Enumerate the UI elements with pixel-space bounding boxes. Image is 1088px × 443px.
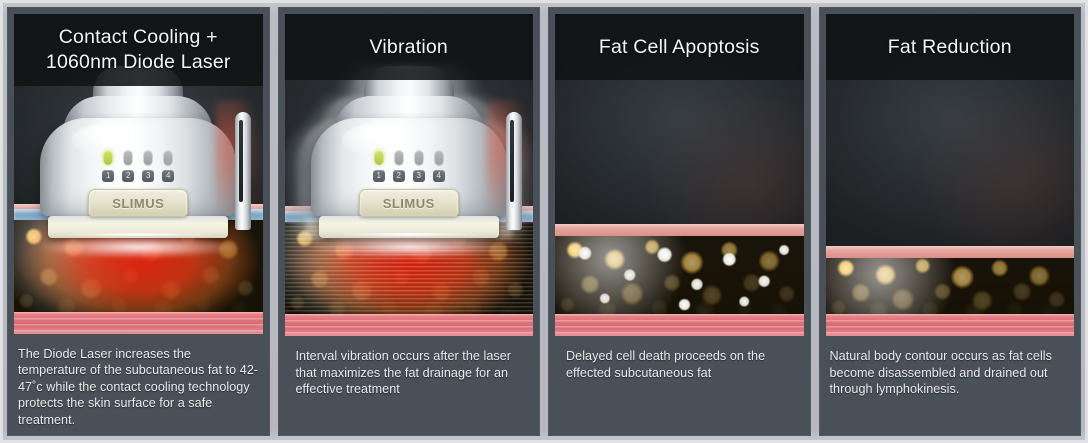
device-button-2[interactable]: 2 — [393, 170, 405, 182]
slimus-handpiece-device: 1 2 3 4 SLIMUS — [294, 66, 524, 251]
device-button-row: 1 2 3 4 — [373, 170, 445, 182]
slimus-handpiece-device: 1 2 3 4 SLIMUS — [23, 66, 253, 251]
panel-title-band: Fat Cell Apoptosis — [555, 14, 804, 80]
device-button-3[interactable]: 3 — [142, 170, 154, 182]
panel-title-band: Contact Cooling + 1060nm Diode Laser — [14, 14, 263, 86]
panel-caption: Interval vibration occurs after the lase… — [278, 336, 541, 436]
panel-illustration-stage: Fat Cell Apoptosis — [555, 14, 804, 336]
device-button-4[interactable]: 4 — [162, 170, 174, 182]
panel-caption: Natural body contour occurs as fat cells… — [819, 336, 1082, 436]
led-indicator-row — [104, 150, 173, 165]
tissue-cross-section — [555, 224, 804, 336]
dermis-layer — [555, 229, 804, 236]
panel-contact-cooling-diode-laser[interactable]: 1 2 3 4 SLIMUS Cont — [7, 7, 270, 436]
subcutaneous-fat-layer-reduced — [826, 258, 1075, 314]
led-indicator-2 — [124, 150, 133, 165]
muscle-layer — [14, 312, 263, 334]
slimus-logo-text: SLIMUS — [112, 196, 164, 211]
led-indicator-3 — [144, 150, 153, 165]
skin-contact-glow — [33, 235, 243, 259]
panel-title: Fat Cell Apoptosis — [599, 35, 760, 60]
panel-illustration-stage: 1 2 3 4 SLIMUS — [285, 14, 534, 336]
slimus-logo-text: SLIMUS — [383, 196, 435, 211]
device-button-row: 1 2 3 4 — [102, 170, 174, 182]
panel-caption: Delayed cell death proceeds on the effec… — [548, 336, 811, 436]
treatment-process-infographic: 1 2 3 4 SLIMUS Cont — [0, 0, 1088, 443]
led-indicator-1 — [104, 150, 113, 165]
led-indicator-2 — [394, 150, 403, 165]
led-indicator-4 — [164, 150, 173, 165]
subcutaneous-fat-layer — [555, 236, 804, 314]
led-indicator-1 — [374, 150, 383, 165]
panel-caption: The Diode Laser increases the temperatur… — [7, 334, 270, 437]
led-indicator-3 — [414, 150, 423, 165]
muscle-layer — [285, 314, 534, 336]
muscle-layer — [555, 314, 804, 336]
device-button-1[interactable]: 1 — [373, 170, 385, 182]
panel-title: Fat Reduction — [888, 35, 1012, 60]
slimus-logo-plate: SLIMUS — [88, 189, 188, 217]
device-side-lever — [235, 112, 251, 230]
muscle-layer — [826, 314, 1075, 336]
panel-illustration-stage: Fat Reduction — [826, 14, 1075, 336]
panel-illustration-stage: 1 2 3 4 SLIMUS Cont — [14, 14, 263, 334]
device-button-3[interactable]: 3 — [413, 170, 425, 182]
skin-contact-glow — [304, 235, 514, 259]
tissue-cross-section — [826, 246, 1075, 336]
led-indicator-4 — [434, 150, 443, 165]
device-side-lever — [506, 112, 522, 230]
slimus-logo-plate: SLIMUS — [359, 189, 459, 217]
dermis-layer — [826, 251, 1075, 258]
device-button-2[interactable]: 2 — [122, 170, 134, 182]
panel-title-band: Vibration — [285, 14, 534, 80]
device-button-4[interactable]: 4 — [433, 170, 445, 182]
device-button-1[interactable]: 1 — [102, 170, 114, 182]
apoptotic-fat-cells — [555, 236, 804, 314]
panel-title-band: Fat Reduction — [826, 14, 1075, 80]
led-indicator-row — [374, 150, 443, 165]
panel-title: Contact Cooling + 1060nm Diode Laser — [46, 25, 231, 75]
panel-fat-reduction[interactable]: Fat Reduction Natural body contour occur… — [819, 7, 1082, 436]
panel-fat-cell-apoptosis[interactable]: Fat Cell Apoptosis Delayed cell death pr… — [548, 7, 811, 436]
panel-title: Vibration — [370, 35, 448, 60]
panel-vibration[interactable]: 1 2 3 4 SLIMUS — [278, 7, 541, 436]
